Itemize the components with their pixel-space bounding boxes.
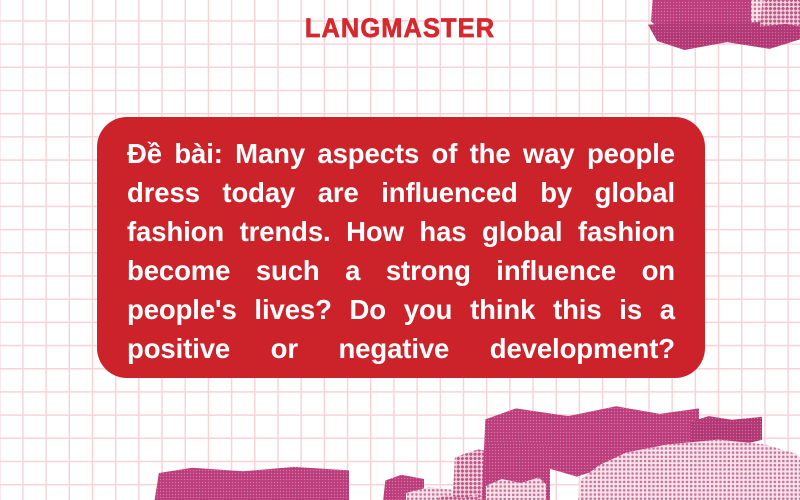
- poster-canvas: LANGMASTER Đề bài: Many aspects of the w…: [0, 0, 800, 500]
- prompt-card: Đề bài: Many aspects of the way people d…: [97, 117, 705, 378]
- langmaster-logo: LANGMASTER: [24, 15, 776, 42]
- prompt-question-text: Đề bài: Many aspects of the way people d…: [127, 134, 675, 407]
